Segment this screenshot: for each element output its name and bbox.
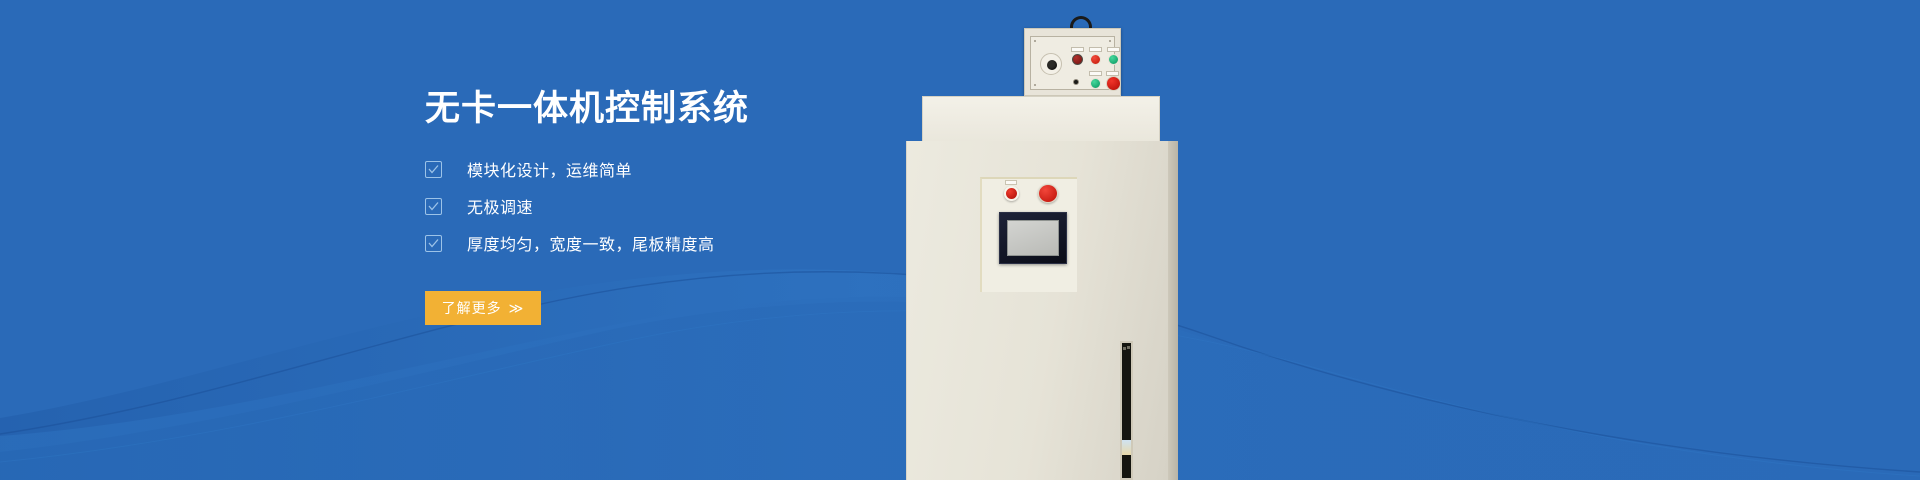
rotary-selector-knob[interactable] <box>1040 53 1062 75</box>
checkbox-check-icon <box>425 198 442 215</box>
list-item: 模块化设计，运维简单 <box>425 159 945 179</box>
green-push-button[interactable] <box>1108 54 1119 65</box>
indicator-label-tag <box>1005 180 1017 185</box>
button-label-tag <box>1107 47 1120 52</box>
hmi-screen <box>1007 220 1059 256</box>
checkbox-check-icon <box>425 161 442 178</box>
hmi-touchscreen-panel[interactable] <box>999 212 1067 264</box>
button-label-tag <box>1089 71 1102 76</box>
black-vertical-strip <box>1120 341 1133 480</box>
red-emergency-stop-button[interactable] <box>1038 184 1058 203</box>
red-emergency-stop-button[interactable] <box>1106 76 1121 91</box>
learn-more-button[interactable]: 了解更多 ≫ <box>425 291 541 325</box>
red-indicator-light[interactable] <box>1004 186 1019 201</box>
checkbox-check-icon <box>425 235 442 252</box>
dark-red-indicator-button[interactable] <box>1072 54 1083 65</box>
learn-more-label: 了解更多 <box>442 298 502 318</box>
feature-label: 模块化设计，运维简单 <box>467 157 632 181</box>
black-small-button[interactable] <box>1073 79 1079 85</box>
feature-label: 无极调速 <box>467 194 533 218</box>
feature-label: 厚度均匀，宽度一致，尾板精度高 <box>467 231 715 255</box>
button-label-tag <box>1089 47 1102 52</box>
cabinet-right-edge <box>1168 141 1178 480</box>
green-push-button[interactable] <box>1090 78 1101 89</box>
red-push-button[interactable] <box>1090 54 1101 65</box>
control-box-faceplate <box>1030 36 1115 90</box>
feature-list: 模块化设计，运维简单 无极调速 厚度均匀，宽度一致，尾板精度高 <box>425 159 945 253</box>
list-item: 无极调速 <box>425 196 945 216</box>
button-label-tag <box>1071 47 1084 52</box>
cabinet-top-cap <box>922 96 1160 142</box>
hero-content: 无卡一体机控制系统 模块化设计，运维简单 无极调速 <box>425 88 945 325</box>
control-box <box>1024 28 1121 96</box>
page-title: 无卡一体机控制系统 <box>425 88 945 130</box>
chevron-right-icon: ≫ <box>509 300 525 317</box>
list-item: 厚度均匀，宽度一致，尾板精度高 <box>425 233 945 253</box>
strip-label-chip <box>1122 440 1131 455</box>
hero-banner: 无卡一体机控制系统 模块化设计，运维简单 无极调速 <box>0 0 1920 480</box>
